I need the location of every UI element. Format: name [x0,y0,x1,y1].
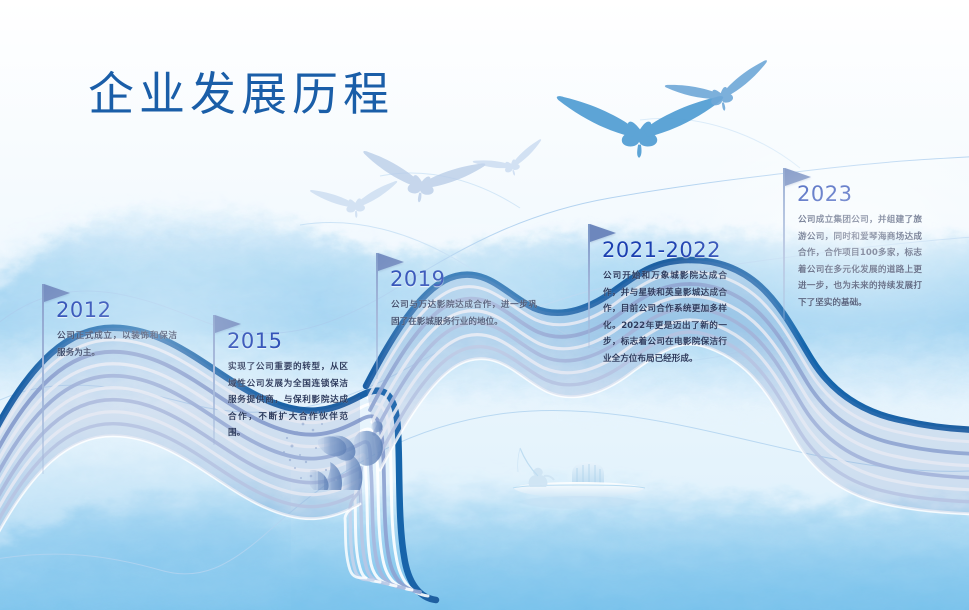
milestone-year: 2021-2022 [602,238,721,262]
ribbon-middle-fold [345,391,436,600]
seagull-faded-right [473,139,550,187]
flag-pole [588,224,590,348]
flag-pole [42,284,44,474]
milestone-text: 公司正式成立，以装饰和保洁服务为主。 [57,328,177,361]
milestone-text: 实现了公司重要的转型，从区域性公司发展为全国连锁保洁服务提供商，与保利影院达成合… [228,359,348,442]
boat-group [513,448,645,509]
seagull-large [557,96,723,158]
flag-pole [213,315,215,445]
milestone-text: 公司与万达影院达成合作，进一步巩固了在影城服务行业的地位。 [391,297,537,330]
flag-pole [783,168,785,320]
poster-canvas: 企业发展历程 2012 公司正式成立，以装饰和保洁服务为主。 2015 实现了公… [0,0,969,610]
milestone-year: 2019 [390,267,445,291]
milestone-year: 2015 [227,329,282,353]
seagull-faded-mid [359,151,486,209]
milestone-year: 2012 [56,298,111,322]
seagull-faded-left [310,181,401,222]
milestone-year: 2023 [797,182,852,206]
mist-bottom [0,474,969,610]
seagull-small-right [665,60,776,123]
flag-pole [376,253,378,379]
mist-bottom-2 [0,521,969,610]
milestone-text: 公司开始和万象城影院达成合作，并与星轶和英皇影城达成合作，目前公司合作系统更加多… [603,268,727,367]
fisherman [529,468,554,487]
page-title: 企业发展历程 [88,58,394,124]
milestone-text: 公司成立集团公司，并组建了旅游公司，同时和爱琴海商场达成合作，合作项目100多家… [798,212,922,311]
